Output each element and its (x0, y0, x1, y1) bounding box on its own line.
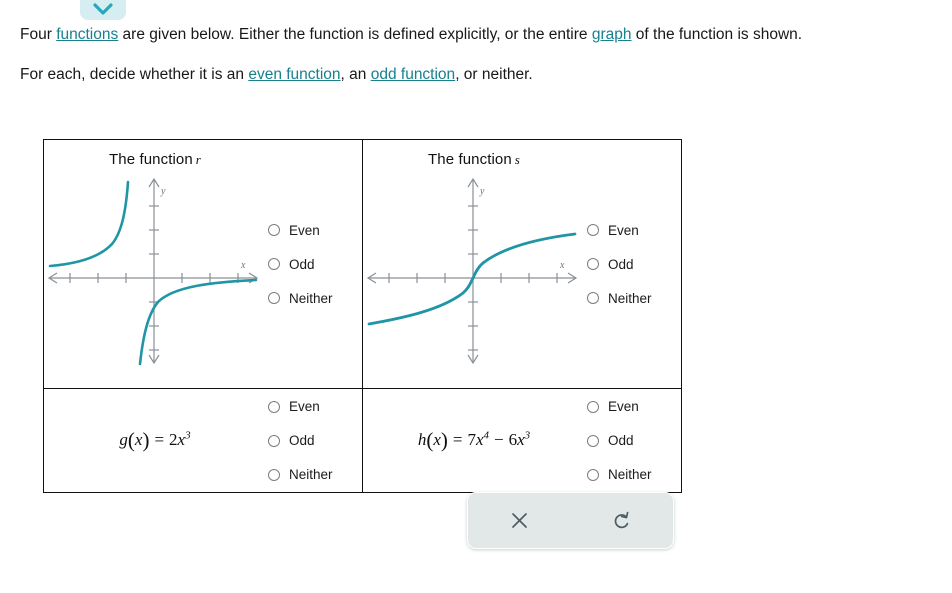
graph-panel-s: The functions (363, 140, 585, 388)
formula-panel-g: g(x)=2x3 (44, 389, 266, 492)
text-fragment: Four (20, 26, 56, 43)
radio-circle-icon[interactable] (587, 292, 599, 304)
graph-r: x y (44, 168, 266, 368)
link-functions[interactable]: functions (56, 26, 118, 43)
collapse-chevron-button[interactable] (80, 0, 126, 20)
link-graph[interactable]: graph (592, 26, 632, 43)
radio-circle-icon[interactable] (587, 469, 599, 481)
x-axis-label-s: x (559, 260, 565, 271)
table-row: g(x)=2x3 Even Odd Neither (44, 389, 682, 493)
radio-r-odd[interactable]: Odd (268, 257, 362, 272)
graph-panel-r: The functionr (44, 140, 266, 388)
radio-h-odd[interactable]: Odd (587, 433, 681, 448)
cell-function-r: The functionr (44, 140, 363, 389)
radio-group-s: Even Odd Neither (585, 140, 681, 388)
close-icon (509, 510, 530, 531)
radio-g-neither[interactable]: Neither (268, 467, 362, 482)
table-row: The functionr (44, 140, 682, 389)
radio-s-even[interactable]: Even (587, 223, 681, 238)
instruction-line-1: Four functions are given below. Either t… (20, 22, 940, 48)
radio-circle-icon[interactable] (268, 258, 280, 270)
functions-table: The functionr (43, 139, 682, 493)
cell-function-h: h(x)=7x4−6x3 Even Odd Neither (363, 389, 682, 493)
radio-circle-icon[interactable] (268, 401, 280, 413)
y-axis-label-r: y (160, 186, 166, 197)
radio-r-neither[interactable]: Neither (268, 291, 362, 306)
radio-circle-icon[interactable] (268, 224, 280, 236)
radio-h-even[interactable]: Even (587, 399, 681, 414)
y-axis-label-s: y (479, 186, 485, 197)
clear-button[interactable] (496, 500, 542, 542)
cell-function-g: g(x)=2x3 Even Odd Neither (44, 389, 363, 493)
instructions: Four functions are given below. Either t… (20, 22, 940, 88)
radio-circle-icon[interactable] (268, 435, 280, 447)
formula-g: g(x)=2x3 (119, 428, 190, 453)
radio-group-h: Even Odd Neither (585, 389, 681, 492)
radio-circle-icon[interactable] (587, 224, 599, 236)
radio-group-r: Even Odd Neither (266, 140, 362, 388)
radio-g-even[interactable]: Even (268, 399, 362, 414)
text-fragment: , or neither. (455, 66, 533, 83)
text-fragment: of the function is shown. (631, 26, 802, 43)
text-fragment: are given below. Either the function is … (118, 26, 592, 43)
formula-panel-h: h(x)=7x4−6x3 (363, 389, 585, 492)
cell-function-s: The functions (363, 140, 682, 389)
text-fragment: , an (341, 66, 371, 83)
answer-toolbar (467, 492, 674, 549)
link-odd-function[interactable]: odd function (371, 66, 455, 83)
cell-title-r: The functionr (109, 151, 201, 168)
undo-button[interactable] (599, 500, 645, 542)
radio-circle-icon[interactable] (587, 401, 599, 413)
radio-circle-icon[interactable] (587, 435, 599, 447)
link-even-function[interactable]: even function (248, 66, 340, 83)
formula-h: h(x)=7x4−6x3 (418, 428, 530, 453)
radio-group-g: Even Odd Neither (266, 389, 362, 492)
undo-icon (611, 510, 633, 532)
radio-circle-icon[interactable] (268, 469, 280, 481)
instruction-line-2: For each, decide whether it is an even f… (20, 62, 940, 88)
radio-g-odd[interactable]: Odd (268, 433, 362, 448)
radio-s-neither[interactable]: Neither (587, 291, 681, 306)
cell-title-s: The functions (428, 151, 520, 168)
radio-r-even[interactable]: Even (268, 223, 362, 238)
graph-s: x y (363, 168, 585, 368)
radio-s-odd[interactable]: Odd (587, 257, 681, 272)
radio-circle-icon[interactable] (587, 258, 599, 270)
radio-circle-icon[interactable] (268, 292, 280, 304)
x-axis-label-r: x (240, 260, 246, 271)
text-fragment: For each, decide whether it is an (20, 66, 248, 83)
radio-h-neither[interactable]: Neither (587, 467, 681, 482)
chevron-down-icon (92, 1, 114, 17)
